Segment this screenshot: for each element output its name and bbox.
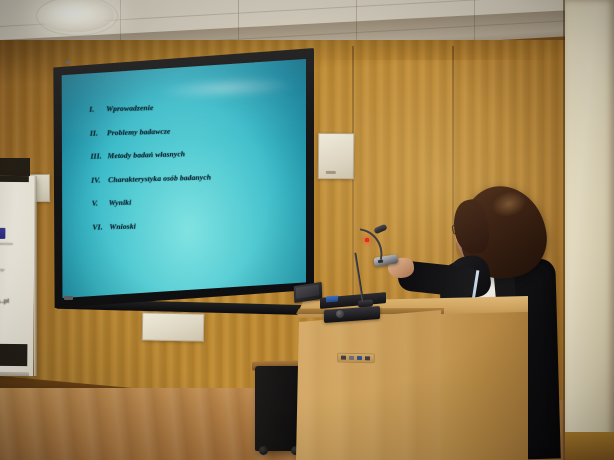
roll-up-banner: Zawodowa nego u a..pl (0, 176, 35, 376)
remote-button[interactable] (378, 259, 383, 263)
lectern (296, 296, 528, 460)
lectern-button[interactable] (341, 356, 346, 360)
screen-corner-tab (66, 61, 70, 64)
microphone-base (358, 299, 373, 307)
screen-label-tab (64, 296, 73, 300)
lectern-side (438, 302, 528, 460)
banner-logo-icon (0, 228, 5, 239)
banner-line-4: a..pl (0, 298, 9, 305)
wall-vent-panel (142, 312, 205, 341)
microphone-led-indicator (365, 238, 369, 242)
lectern-button[interactable] (365, 356, 370, 360)
desk-device-knob[interactable] (336, 310, 344, 318)
wall-column (565, 0, 614, 460)
banner-line-2: nego (0, 268, 5, 272)
lecture-room-photo: Zawodowa nego u a..pl I. Wprowadzenie II… (0, 0, 614, 460)
banner-pole (34, 176, 37, 376)
lectern-button[interactable] (357, 356, 362, 360)
lectern-button[interactable] (349, 356, 354, 360)
wall-speaker-panel (318, 133, 354, 179)
screen-surface: I. Wprowadzenie II. Problemy badawcze II… (61, 58, 306, 298)
laptop[interactable] (294, 282, 323, 303)
projection-screen: I. Wprowadzenie II. Problemy badawcze II… (52, 48, 314, 308)
lectern-control-strip[interactable] (338, 354, 374, 363)
lectern-front (296, 310, 441, 460)
banner-line-1: Zawodowa (0, 242, 13, 246)
case-wheel (259, 446, 268, 455)
control-panel-display (326, 295, 338, 302)
